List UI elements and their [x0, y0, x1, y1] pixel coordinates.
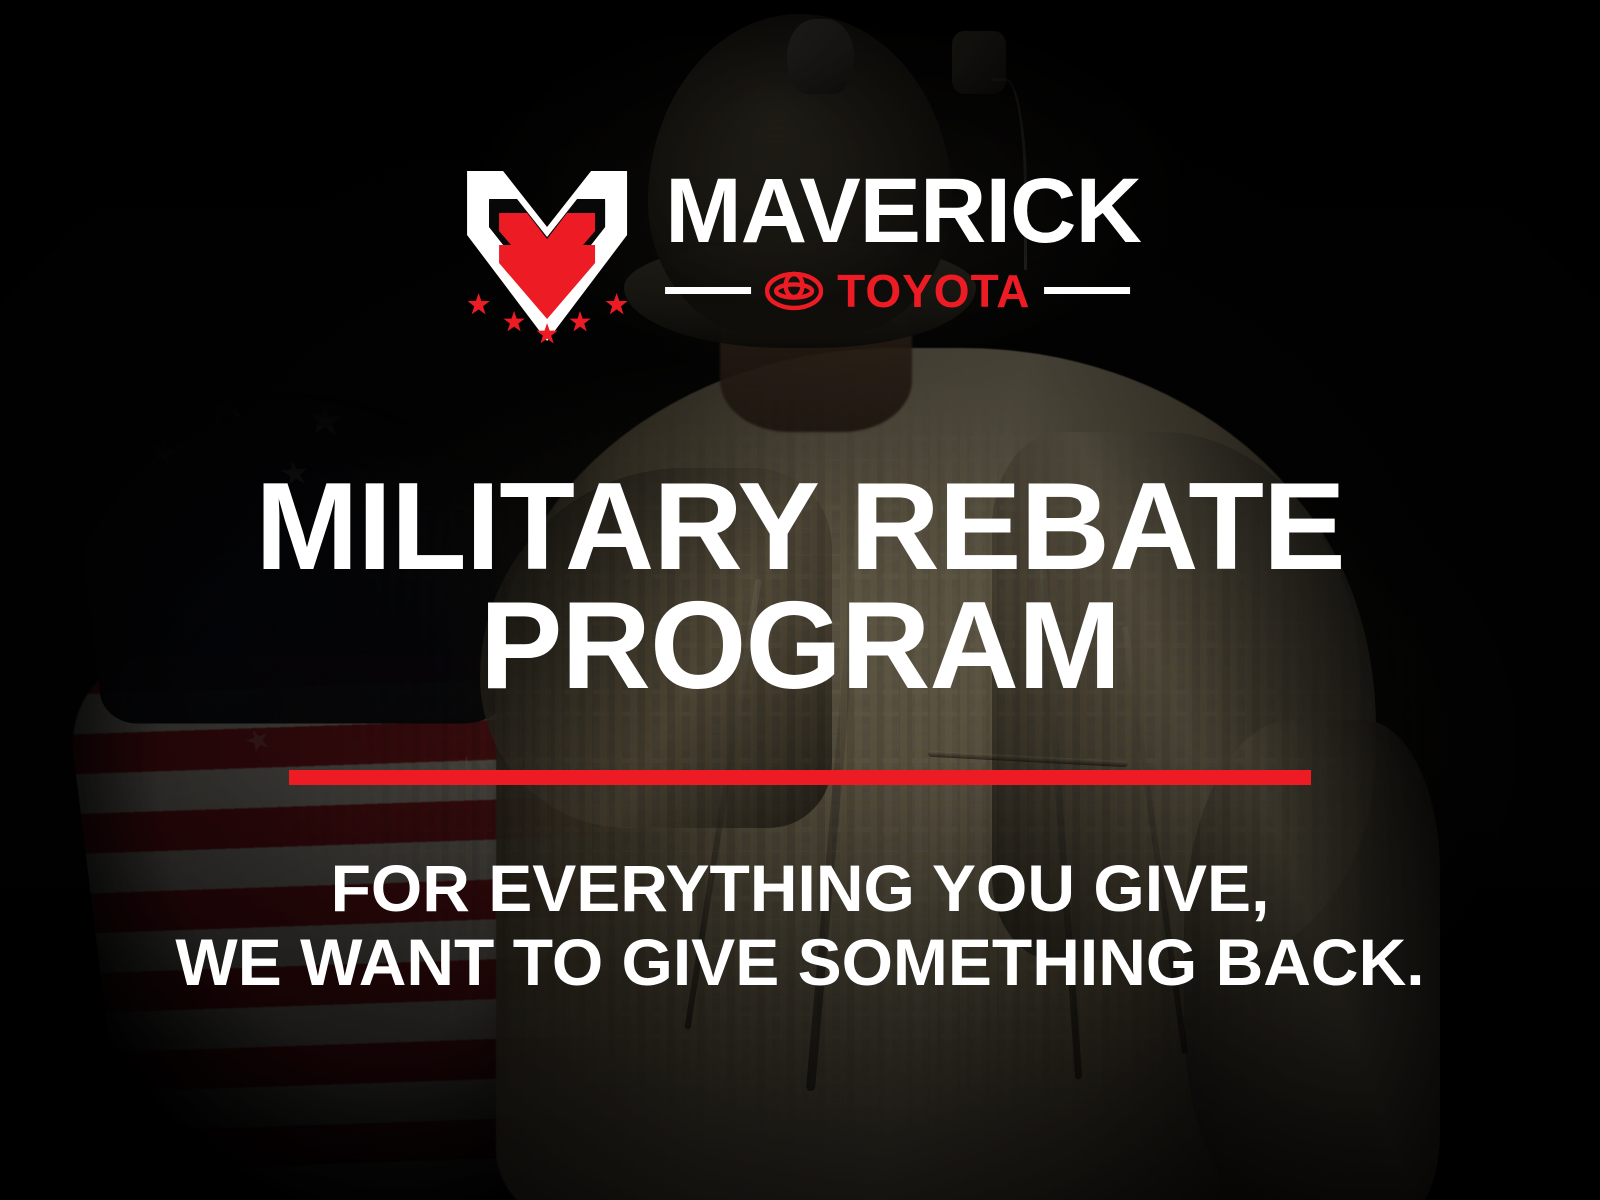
toyota-wordmark: TOYOTA [837, 268, 1030, 314]
toyota-lockup: TOYOTA [665, 268, 1141, 314]
toyota-ellipse-emblem-icon [765, 271, 823, 311]
military-rebate-banner: MAVERICK TOYOTA MILITARY REBATE PROGRAM [0, 0, 1600, 1200]
subheadline-line-1: FOR EVERYTHING YOU GIVE, [331, 851, 1270, 925]
brand-text-block: MAVERICK TOYOTA [665, 169, 1141, 314]
lockup-rule-left [665, 287, 751, 294]
subheadline: FOR EVERYTHING YOU GIVE, WE WANT TO GIVE… [175, 852, 1424, 1000]
page-title: MILITARY REBATE PROGRAM [255, 468, 1345, 706]
headline-line-1: MILITARY REBATE [255, 458, 1345, 596]
brand-name: MAVERICK [665, 169, 1141, 254]
red-divider-rule [289, 770, 1311, 785]
headline-line-2: PROGRAM [255, 587, 1345, 706]
lockup-rule-right [1044, 287, 1130, 294]
chevron-shield-m-icon [459, 165, 635, 355]
brand-logo-lockup: MAVERICK TOYOTA [459, 165, 1141, 355]
subheadline-line-2: WE WANT TO GIVE SOMETHING BACK. [175, 926, 1424, 1000]
banner-content: MAVERICK TOYOTA MILITARY REBATE PROGRAM [0, 0, 1600, 1200]
